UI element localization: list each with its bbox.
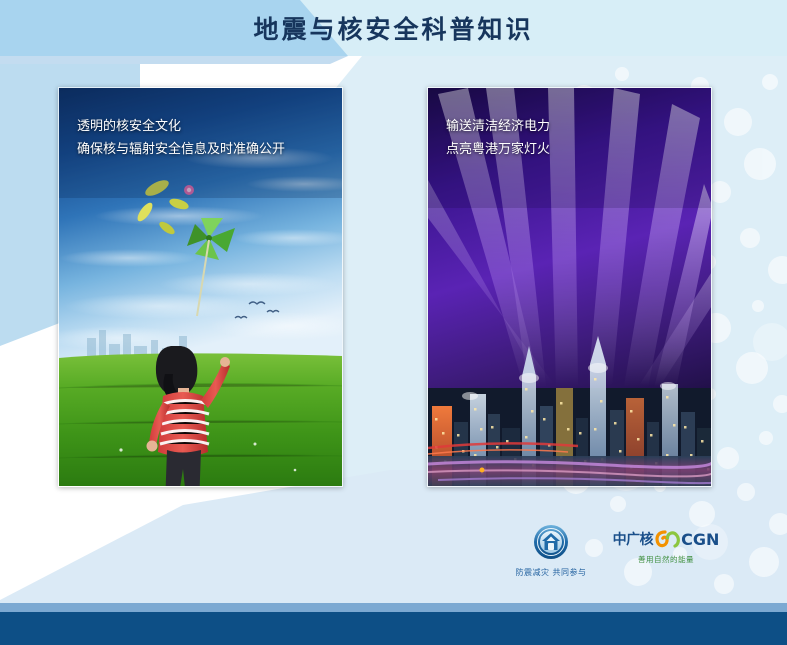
photo-card-nuclear-safety-culture[interactable]: 透明的核安全文化 确保核与辐射安全信息及时准确公开 <box>58 87 343 487</box>
photo-caption-left: 透明的核安全文化 确保核与辐射安全信息及时准确公开 <box>77 116 285 162</box>
footer-light-bar <box>0 603 787 612</box>
logo-cgn[interactable]: 中广核 CGN 善用自然的能量 <box>607 528 725 565</box>
logo-seismic-prevention[interactable]: 防震减灾 共同参与 <box>495 524 607 578</box>
photo-caption-right: 输送清洁经济电力 点亮粤港万家灯火 <box>446 116 550 162</box>
photo-caption-left-line2: 确保核与辐射安全信息及时准确公开 <box>77 139 285 162</box>
photo-caption-right-line1: 输送清洁经济电力 <box>446 116 550 139</box>
cgn-english-name: CGN <box>681 530 719 549</box>
page-title: 地震与核安全科普知识 <box>0 0 787 56</box>
slide-canvas: 地震与核安全科普知识 <box>0 0 787 645</box>
seismic-logo-caption: 防震减灾 共同参与 <box>495 567 607 578</box>
cgn-chinese-name: 中广核 <box>613 529 654 549</box>
photo-card-clean-power-hong-kong[interactable]: 输送清洁经济电力 点亮粤港万家灯火 <box>427 87 712 487</box>
seismic-emblem-icon <box>533 524 569 560</box>
footer-logos: 防震减灾 共同参与 中广核 CGN 善用自然的能量 <box>495 524 725 588</box>
cgn-swirl-icon <box>654 529 680 549</box>
cgn-wordmark: 中广核 CGN <box>607 528 725 550</box>
photo-caption-left-line1: 透明的核安全文化 <box>77 116 285 139</box>
cgn-tagline: 善用自然的能量 <box>607 554 725 565</box>
photo-caption-right-line2: 点亮粤港万家灯火 <box>446 139 550 162</box>
slide-header: 地震与核安全科普知识 <box>0 0 787 56</box>
footer-dark-bar <box>0 612 787 645</box>
